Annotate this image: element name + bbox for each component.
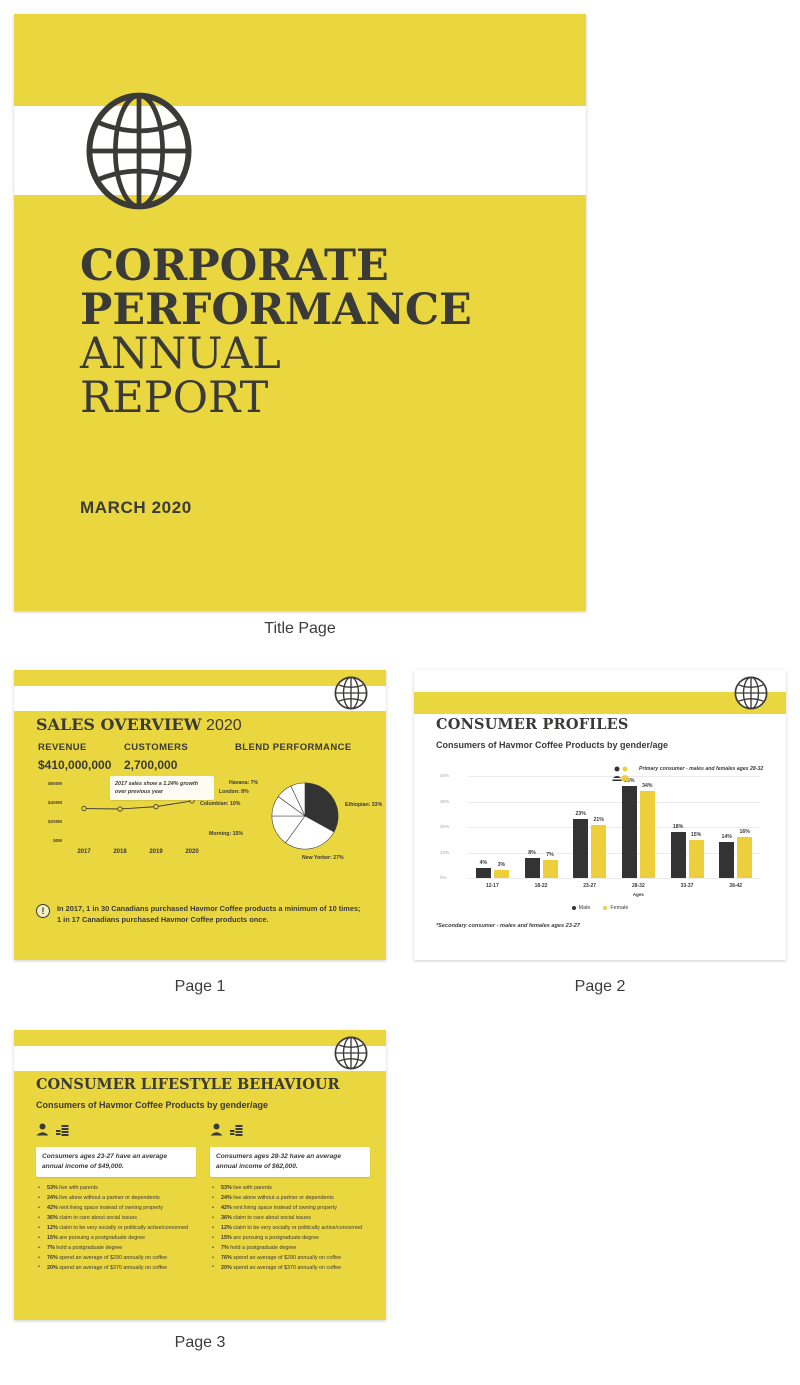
lifestyle-icons <box>210 1122 370 1142</box>
list-item: 12% claim to be very socially or politic… <box>45 1224 196 1233</box>
list-item: 24% live alone without a partner or depe… <box>219 1194 370 1203</box>
bar-chart-ytick: 0% <box>440 875 447 880</box>
pie-slice-label: New Yorker: 27% <box>302 855 344 861</box>
bar-chart-xaxis-label: Ages <box>614 892 663 897</box>
bar-value-label: 8% <box>528 850 536 856</box>
bar-value-label: 4% <box>480 860 488 866</box>
income-callout-card: Consumers ages 28-32 have an average ann… <box>210 1147 370 1177</box>
bar-group: 23%21%23-27 <box>565 766 614 878</box>
line-chart-xtick: 2018 <box>113 849 127 855</box>
line-chart-ytick: $0M <box>53 838 62 843</box>
people-icon <box>612 766 634 784</box>
bar-category-label: 12-17 <box>468 883 517 889</box>
bar-category-label: 23-27 <box>565 883 614 889</box>
revenue-label: REVENUE <box>38 742 87 753</box>
page2-subtitle: Consumers of Havmor Coffee Products by g… <box>436 740 668 750</box>
line-chart-point <box>154 804 158 808</box>
page2-title: CONSUMER PROFILES <box>436 716 629 733</box>
bar-male: 23% <box>573 819 588 878</box>
bar-value-label: 3% <box>498 862 506 868</box>
page2-yellow-band <box>414 692 786 714</box>
caption-page-2: Page 2 <box>414 978 786 996</box>
line-chart-point <box>118 807 122 811</box>
bar-value-label: 16% <box>739 829 749 835</box>
bar-value-label: 34% <box>642 783 652 789</box>
list-item: 76% spend an average of $290 annually on… <box>45 1254 196 1263</box>
list-item: 15% are pursuing a postgraduate degree <box>219 1234 370 1243</box>
lifestyle-bullet-list: 53% live with parents24% live alone with… <box>210 1184 370 1272</box>
blend-performance-pie-chart <box>269 780 341 852</box>
page2-footnote: *Secondary consumer - males and females … <box>436 923 580 929</box>
page1-note: ! In 2017, 1 in 30 Canadians purchased H… <box>36 903 366 926</box>
list-item: 7% hold a postgraduate degree <box>45 1244 196 1253</box>
bar-male: 4% <box>476 868 491 878</box>
line-chart-ytick: $200M <box>48 819 62 824</box>
lifestyle-bullet-list: 53% live with parents24% live alone with… <box>36 1184 196 1272</box>
bar-chart-ytick: 40% <box>440 773 449 778</box>
page3-title: CONSUMER LIFESTYLE BEHAVIOUR <box>36 1076 340 1093</box>
bar-female: 3% <box>494 870 509 878</box>
legend-item: Male <box>572 905 591 911</box>
title-line-4: REPORT <box>80 377 540 421</box>
exclamation-icon: ! <box>36 904 50 918</box>
bar-chart-ytick: 30% <box>440 799 449 804</box>
bar-chart-ytick: 10% <box>440 850 449 855</box>
lifestyle-column-28-32: Consumers ages 28-32 have an average ann… <box>210 1122 370 1274</box>
page1-title-bold: SALES OVERVIEW <box>36 715 202 734</box>
legend-label: Male <box>579 905 591 911</box>
list-item: 12% claim to be very socially or politic… <box>219 1224 370 1233</box>
bar-female: 21% <box>591 825 606 878</box>
legend-swatch-icon <box>603 906 607 910</box>
line-chart-ytick: $600M <box>48 781 62 786</box>
globe-icon <box>334 676 368 710</box>
line-chart-xtick: 2017 <box>77 849 91 855</box>
list-item: 42% rent living space instead of owning … <box>45 1204 196 1213</box>
bar-category-label: 18-22 <box>517 883 566 889</box>
gridline <box>468 878 760 879</box>
bar-value-label: 15% <box>691 832 701 838</box>
revenue-value: $410,000,000 <box>38 758 111 772</box>
list-item: 76% spend an average of $290 annually on… <box>219 1254 370 1263</box>
lifestyle-icons <box>36 1122 196 1142</box>
list-item: 53% live with parents <box>45 1184 196 1193</box>
list-item: 24% live alone without a partner or depe… <box>45 1194 196 1203</box>
lifestyle-column-23-27: Consumers ages 23-27 have an average ann… <box>36 1122 196 1274</box>
list-item: 20% spend an average of $370 annually on… <box>219 1264 370 1273</box>
bar-female: 15% <box>689 840 704 878</box>
bar-male: 18% <box>671 832 686 878</box>
bar-group: 8%7%18-22 <box>517 766 566 878</box>
line-chart-callout: 2017 sales show a 1.24% growth over prev… <box>110 776 214 800</box>
line-chart-series <box>84 801 192 809</box>
page1-note-text: In 2017, 1 in 30 Canadians purchased Hav… <box>57 903 366 926</box>
pie-slice-label: Havana: 7% <box>229 780 258 786</box>
list-item: 15% are pursuing a postgraduate degree <box>45 1234 196 1243</box>
pie-slice-label: London: 8% <box>219 789 249 795</box>
list-item: 20% spend an average of $370 annually on… <box>45 1264 196 1273</box>
title-line-1: CORPORATE <box>80 246 540 288</box>
list-item: 36% claim to care about social issues <box>219 1214 370 1223</box>
page1-title: SALES OVERVIEW 2020 <box>36 715 242 735</box>
coins-icon <box>230 1123 245 1142</box>
customers-label: CUSTOMERS <box>124 742 188 753</box>
report-date: MARCH 2020 <box>80 498 192 518</box>
customers-value: 2,700,000 <box>124 758 177 772</box>
bar-male: 8% <box>525 858 540 878</box>
page3-white-band <box>14 1046 386 1071</box>
person-icon <box>36 1123 49 1142</box>
pie-slice-label: Ethiopian: 33% <box>345 802 382 808</box>
list-item: 42% rent living space instead of owning … <box>219 1204 370 1213</box>
primary-consumer-annotation: Primary consumer - males and females age… <box>612 766 763 784</box>
pie-slice-label: Morning: 15% <box>209 831 243 837</box>
page1-white-band <box>14 686 386 711</box>
bar-value-label: 18% <box>673 824 683 830</box>
bar-chart-legend: MaleFemale <box>414 905 786 911</box>
bar-category-label: 38-42 <box>711 883 760 889</box>
pie-slice-label: Columbian: 10% <box>200 801 240 807</box>
consumer-profiles-bar-chart: 40%30%20%10%0%4%3%12-178%7%18-2223%21%23… <box>438 766 764 896</box>
page1-title-year: 2020 <box>202 717 242 734</box>
page-1-thumbnail[interactable]: SALES OVERVIEW 2020 REVENUE $410,000,000… <box>14 670 386 960</box>
page-3-thumbnail[interactable]: CONSUMER LIFESTYLE BEHAVIOUR Consumers o… <box>14 1030 386 1320</box>
legend-label: Female <box>610 905 628 911</box>
legend-item: Female <box>603 905 628 911</box>
coins-icon <box>56 1123 71 1142</box>
line-chart-ytick: $400M <box>48 800 62 805</box>
globe-icon <box>734 676 768 710</box>
blend-performance-label: BLEND PERFORMANCE <box>235 742 352 753</box>
bar-value-label: 7% <box>546 852 554 858</box>
bar-female: 7% <box>543 860 558 878</box>
bar-value-label: 14% <box>721 834 731 840</box>
line-chart-xtick: 2020 <box>185 849 199 855</box>
title-page: CORPORATE PERFORMANCE ANNUAL REPORT MARC… <box>14 14 586 611</box>
bar-value-label: 21% <box>593 817 603 823</box>
page3-subtitle: Consumers of Havmor Coffee Products by g… <box>36 1100 268 1110</box>
globe-icon <box>80 92 198 210</box>
bar-category-label: 28-32 <box>614 883 663 889</box>
legend-swatch-icon <box>572 906 576 910</box>
person-icon <box>210 1123 223 1142</box>
line-chart-point <box>82 806 86 810</box>
bar-female: 16% <box>737 837 752 878</box>
title-line-3: ANNUAL <box>80 333 540 377</box>
title-line-2: PERFORMANCE <box>80 290 540 332</box>
bar-female: 34% <box>640 791 655 878</box>
annotation-text: Primary consumer - males and females age… <box>639 766 763 774</box>
bar-male: 14% <box>719 842 734 878</box>
caption-title-page: Title Page <box>14 620 586 638</box>
globe-icon <box>334 1036 368 1070</box>
page-2-thumbnail[interactable]: CONSUMER PROFILES Consumers of Havmor Co… <box>414 670 786 960</box>
bar-category-label: 33-37 <box>663 883 712 889</box>
bar-group: 4%3%12-17 <box>468 766 517 878</box>
list-item: 36% claim to care about social issues <box>45 1214 196 1223</box>
list-item: 7% hold a postgraduate degree <box>219 1244 370 1253</box>
line-chart-xtick: 2019 <box>149 849 163 855</box>
list-item: 53% live with parents <box>219 1184 370 1193</box>
caption-page-3: Page 3 <box>14 1334 386 1352</box>
income-callout-card: Consumers ages 23-27 have an average ann… <box>36 1147 196 1177</box>
caption-page-1: Page 1 <box>14 978 386 996</box>
bar-value-label: 23% <box>575 811 585 817</box>
bar-male: 36% <box>622 786 637 878</box>
page-title: CORPORATE PERFORMANCE ANNUAL REPORT <box>80 246 540 421</box>
bar-chart-ytick: 20% <box>440 824 449 829</box>
